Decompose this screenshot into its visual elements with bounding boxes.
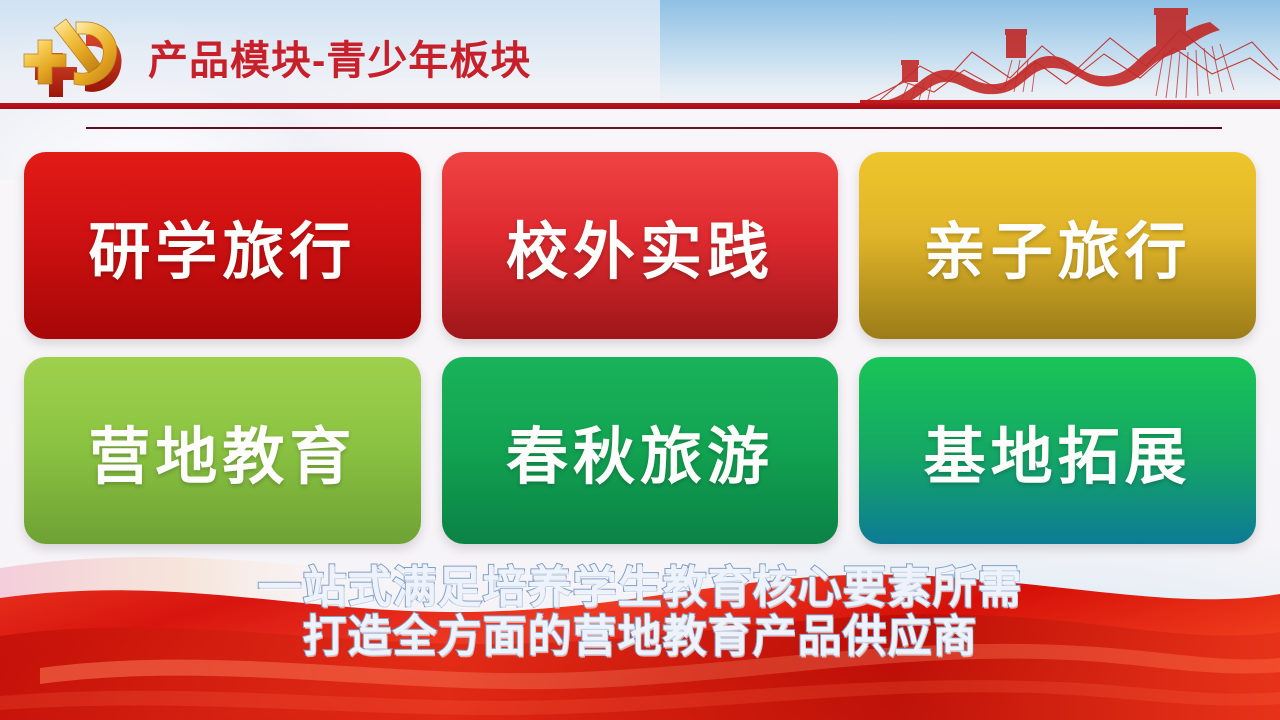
page-title: 产品模块-青少年板块 xyxy=(148,28,531,86)
card-label: 春秋旅游 xyxy=(506,406,774,496)
card-label: 亲子旅行 xyxy=(924,201,1192,291)
card-label: 校外实践 xyxy=(506,201,774,291)
card-label: 研学旅行 xyxy=(88,201,356,291)
product-module-grid: 研学旅行 校外实践 亲子旅行 营地教育 春秋旅游 基地拓展 xyxy=(24,152,1256,544)
card-spring-autumn-tourism[interactable]: 春秋旅游 xyxy=(442,357,839,544)
card-offcampus-practice[interactable]: 校外实践 xyxy=(442,152,839,339)
tagline-line-1: 一站式满足培养学生教育核心要素所需 xyxy=(0,566,1280,611)
tagline-line-2: 打造全方面的营地教育产品供应商 xyxy=(0,615,1280,660)
header-red-rule xyxy=(0,103,1280,109)
card-camp-education[interactable]: 营地教育 xyxy=(24,357,421,544)
great-wall-icon xyxy=(860,0,1280,110)
cpc-emblem-icon xyxy=(22,14,140,106)
header-bar: 产品模块-青少年板块 xyxy=(0,0,1280,112)
card-parent-child-travel[interactable]: 亲子旅行 xyxy=(859,152,1256,339)
card-label: 基地拓展 xyxy=(924,406,1192,496)
section-divider-line xyxy=(86,127,1222,129)
slide-root: 产品模块-青少年板块 研学旅行 校外实践 亲子旅行 营地教育 春秋旅游 基地拓展 xyxy=(0,0,1280,720)
card-study-tour[interactable]: 研学旅行 xyxy=(24,152,421,339)
card-label: 营地教育 xyxy=(88,406,356,496)
tagline-block: 一站式满足培养学生教育核心要素所需 打造全方面的营地教育产品供应商 xyxy=(0,566,1280,660)
card-base-expansion[interactable]: 基地拓展 xyxy=(859,357,1256,544)
